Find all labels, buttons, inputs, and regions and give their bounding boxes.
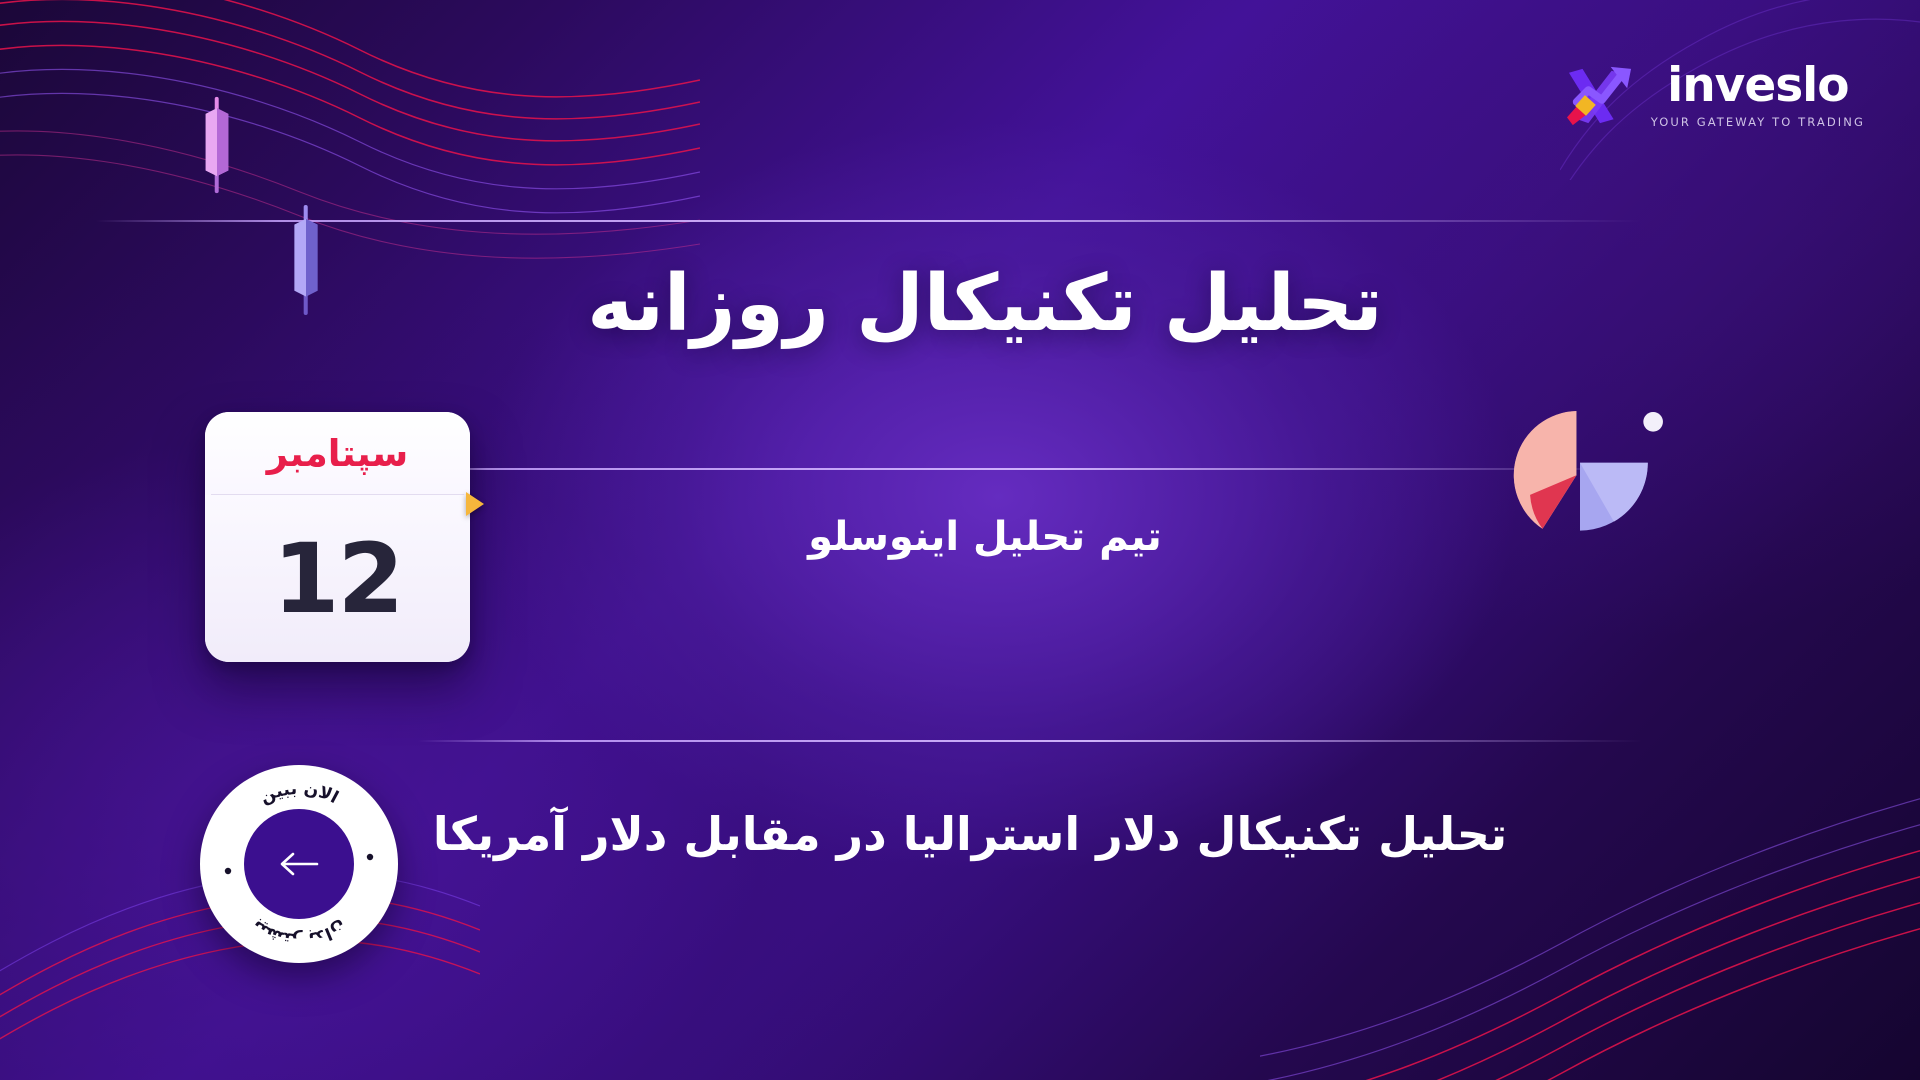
calendar-corner-tab-icon [466,492,484,516]
divider-bottom [418,740,1643,742]
candlestick-pink-icon [200,96,234,194]
calendar-month-label: سپتامبر [267,435,409,472]
candlestick-violet-icon [288,205,324,315]
pie-chart-decor-icon [1490,395,1670,560]
brand-logo[interactable]: inveslo YOUR GATEWAY TO TRADING [1563,62,1865,129]
watch-now-stamp-badge[interactable]: الان ببین بیشتر بدان [200,765,398,963]
svg-text:بیشتر بدان: بیشتر بدان [248,916,349,949]
svg-text:الان ببین: الان ببین [257,779,342,808]
divider-top [96,220,1641,222]
calendar-body: 12 [205,495,470,662]
brand-name: inveslo [1667,62,1848,109]
stamp-center[interactable] [244,809,354,919]
page-subtitle: تیم تحلیل اینوسلو [625,513,1345,561]
wave-top-left-icon [0,0,700,290]
brand-logo-text: inveslo YOUR GATEWAY TO TRADING [1651,62,1865,129]
arrow-left-icon [277,849,321,879]
calendar-day-number: 12 [273,531,403,627]
calendar-header: سپتامبر [205,412,470,494]
stamp-text-secondary: بیشتر بدان [248,916,349,949]
inveslo-mark-icon [1563,63,1637,129]
page-title: تحلیل تکنیکال روزانه [505,258,1465,350]
brand-tagline: YOUR GATEWAY TO TRADING [1651,115,1865,129]
banner-stage: سپتامبر 12 الان ببین بیشتر بدان [0,0,1920,1080]
calendar-card: سپتامبر 12 [205,412,470,662]
analysis-headline: تحلیل تکنیکال دلار استرالیا در مقابل دلا… [400,805,1540,865]
divider-middle [330,468,1640,470]
stamp-text-primary: الان ببین [257,779,342,808]
